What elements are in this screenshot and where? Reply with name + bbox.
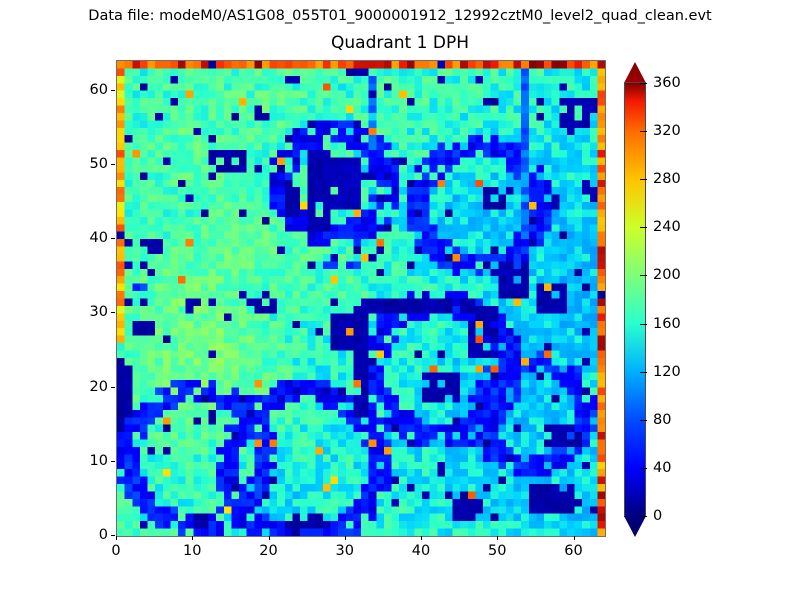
colorbar-tick-mark (640, 227, 647, 228)
x-tick-label: 30 (336, 543, 354, 559)
x-tick-mark (574, 536, 575, 540)
x-tick-label: 10 (183, 543, 201, 559)
colorbar-tick-mark (640, 420, 647, 421)
x-tick-label: 50 (488, 543, 506, 559)
colorbar-tick-label: 240 (653, 219, 681, 235)
heatmap-image (117, 61, 605, 536)
x-tick-label: 0 (111, 543, 120, 559)
colorbar-tick-mark (640, 516, 647, 517)
colorbar-tick-label: 360 (653, 75, 681, 91)
colorbar-tick-label: 280 (653, 171, 681, 187)
y-tick-label: 20 (64, 379, 108, 395)
x-tick-mark (116, 536, 117, 540)
colorbar-tick-label: 320 (653, 123, 681, 139)
y-tick-label: 10 (64, 453, 108, 469)
colorbar-gradient (624, 82, 646, 517)
y-tick-mark (111, 535, 115, 536)
y-tick-mark (111, 312, 115, 313)
colorbar-tick-mark (640, 83, 647, 84)
page-title: Quadrant 1 DPH (0, 33, 800, 53)
colorbar-extend-bottom-arrow (624, 516, 646, 537)
y-tick-label: 0 (64, 527, 108, 543)
y-tick-label: 30 (64, 304, 108, 320)
y-tick-mark (111, 387, 115, 388)
colorbar-tick-label: 0 (653, 508, 662, 524)
y-tick-label: 40 (64, 230, 108, 246)
y-tick-mark (111, 238, 115, 239)
x-tick-mark (269, 536, 270, 540)
colorbar-tick-label: 40 (653, 460, 671, 476)
colorbar-tick-mark (640, 468, 647, 469)
colorbar-tick-mark (640, 131, 647, 132)
colorbar: 04080120160200240280320360 (624, 60, 744, 540)
colorbar-tick-mark (640, 372, 647, 373)
colorbar-tick-label: 160 (653, 316, 681, 332)
x-tick-label: 40 (412, 543, 430, 559)
x-tick-mark (192, 536, 193, 540)
x-tick-label: 60 (564, 543, 582, 559)
heatmap-plot-area (116, 60, 606, 537)
y-tick-mark (111, 461, 115, 462)
x-tick-mark (421, 536, 422, 540)
x-tick-mark (497, 536, 498, 540)
colorbar-tick-mark (640, 275, 647, 276)
colorbar-tick-mark (640, 324, 647, 325)
x-tick-label: 20 (259, 543, 277, 559)
colorbar-tick-label: 200 (653, 267, 681, 283)
colorbar-tick-label: 120 (653, 364, 681, 380)
x-tick-mark (345, 536, 346, 540)
y-tick-label: 60 (64, 82, 108, 98)
colorbar-tick-mark (640, 179, 647, 180)
y-tick-label: 50 (64, 156, 108, 172)
colorbar-tick-label: 80 (653, 412, 671, 428)
colorbar-extend-top-arrow (624, 62, 646, 83)
y-tick-mark (111, 90, 115, 91)
y-tick-mark (111, 164, 115, 165)
data-file-label: Data file: modeM0/AS1G08_055T01_90000019… (0, 8, 800, 24)
